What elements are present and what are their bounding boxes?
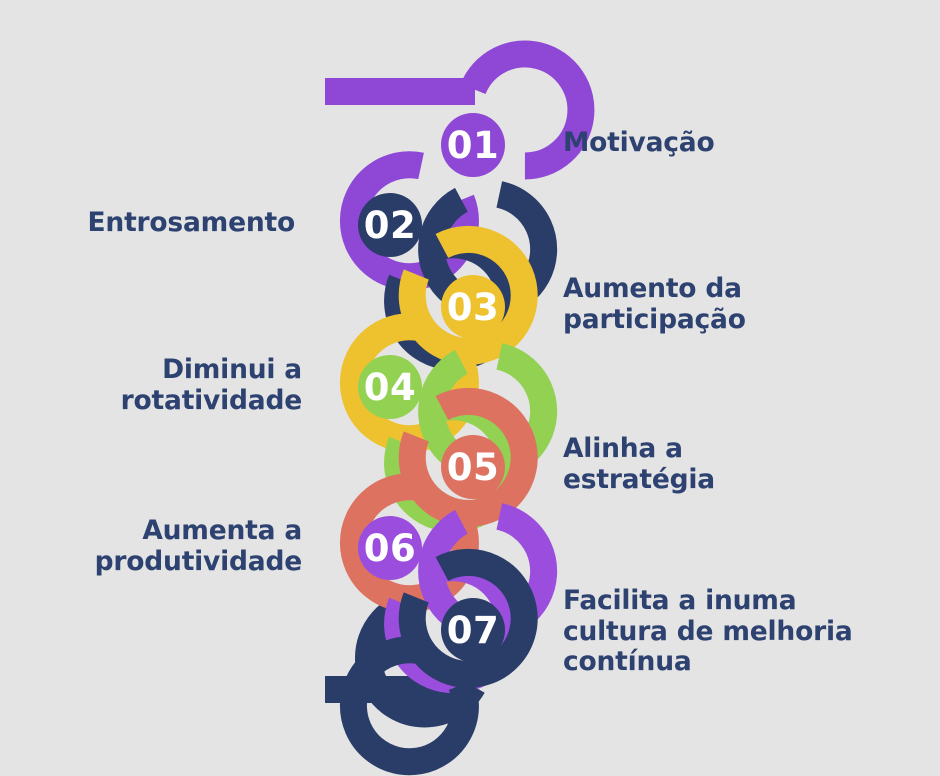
node-label-02: Entrosamento bbox=[0, 208, 295, 239]
node-label-05: Alinha a estratégia bbox=[563, 434, 913, 495]
node-label-01: Motivação bbox=[563, 128, 913, 159]
node-number-01: 01 bbox=[447, 124, 500, 167]
node-label-07: Facilita a inuma cultura de melhoria con… bbox=[563, 586, 923, 678]
node-number-03: 03 bbox=[447, 286, 500, 329]
node-label-06: Aumenta a produtividade bbox=[0, 516, 302, 577]
node-number-05: 05 bbox=[447, 446, 500, 489]
node-label-03: Aumento da participação bbox=[563, 274, 913, 335]
top-connector-bar bbox=[325, 78, 475, 105]
node-label-04: Diminui a rotatividade bbox=[0, 355, 302, 416]
node-number-04: 04 bbox=[364, 366, 417, 409]
node-number-07: 07 bbox=[447, 609, 500, 652]
node-number-06: 06 bbox=[364, 527, 417, 570]
infographic-canvas: 01020304050607 Motivação Entrosamento Au… bbox=[0, 0, 940, 776]
node-number-02: 02 bbox=[364, 204, 417, 247]
